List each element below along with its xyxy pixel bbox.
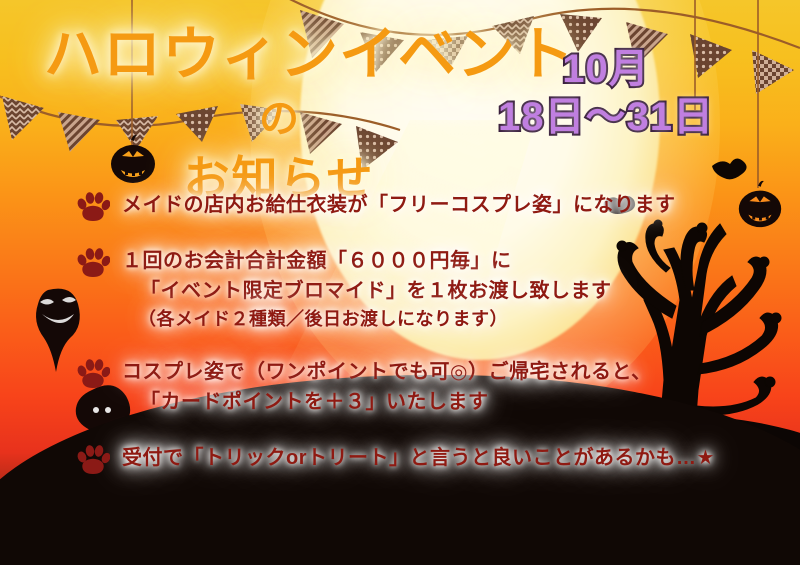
list-item-line: 受付で「トリックorトリート」と言うと良いことがあるかも…★	[122, 443, 776, 473]
event-details-list: メイドの店内お給仕衣装が「フリーコスプレ姿」になります １回のお会計合計金額「６…	[76, 190, 776, 491]
halloween-event-poster: ハロウィンイベント の お知らせ 10月 18日～31日 メイドの店内お給仕衣装…	[0, 0, 800, 565]
list-item-line: 「カードポイントを＋３」いたします	[122, 387, 776, 417]
list-item: 受付で「トリックorトリート」と言うと良いことがあるかも…★	[76, 443, 776, 473]
event-date-badge: 10月 18日～31日	[498, 48, 714, 140]
list-item-line: １回のお会計合計金額「６０００円毎」に	[122, 246, 776, 276]
paw-print-icon	[76, 248, 110, 280]
title-particle-text: の	[44, 86, 514, 144]
list-item-line: （各メイド２種類／後日お渡しになります）	[122, 306, 776, 333]
event-date-range: 18日～31日	[498, 94, 714, 140]
list-item-lines: コスプレ姿で（ワンポイントでも可◎）ご帰宅されると、 「カードポイントを＋３」い…	[76, 357, 776, 417]
paw-print-icon	[76, 445, 110, 477]
list-item-line: コスプレ姿で（ワンポイントでも可◎）ご帰宅されると、	[122, 357, 776, 387]
title-main-text: ハロウィンイベント	[44, 26, 514, 84]
poster-title: ハロウィンイベント の お知らせ	[44, 26, 514, 208]
list-item-line: 「イベント限定ブロマイド」を１枚お渡し致します	[122, 276, 776, 306]
list-item-lines: メイドの店内お給仕衣装が「フリーコスプレ姿」になります	[76, 190, 776, 220]
list-item-line: メイドの店内お給仕衣装が「フリーコスプレ姿」になります	[122, 190, 776, 220]
paw-print-icon	[76, 359, 110, 391]
list-item-lines: １回のお会計合計金額「６０００円毎」に 「イベント限定ブロマイド」を１枚お渡し致…	[76, 246, 776, 333]
list-item: コスプレ姿で（ワンポイントでも可◎）ご帰宅されると、 「カードポイントを＋３」い…	[76, 357, 776, 417]
paw-print-icon	[76, 192, 110, 224]
list-item: メイドの店内お給仕衣装が「フリーコスプレ姿」になります	[76, 190, 776, 220]
list-item-lines: 受付で「トリックorトリート」と言うと良いことがあるかも…★	[76, 443, 776, 473]
list-item: １回のお会計合計金額「６０００円毎」に 「イベント限定ブロマイド」を１枚お渡し致…	[76, 246, 776, 333]
event-month: 10月	[498, 48, 714, 90]
